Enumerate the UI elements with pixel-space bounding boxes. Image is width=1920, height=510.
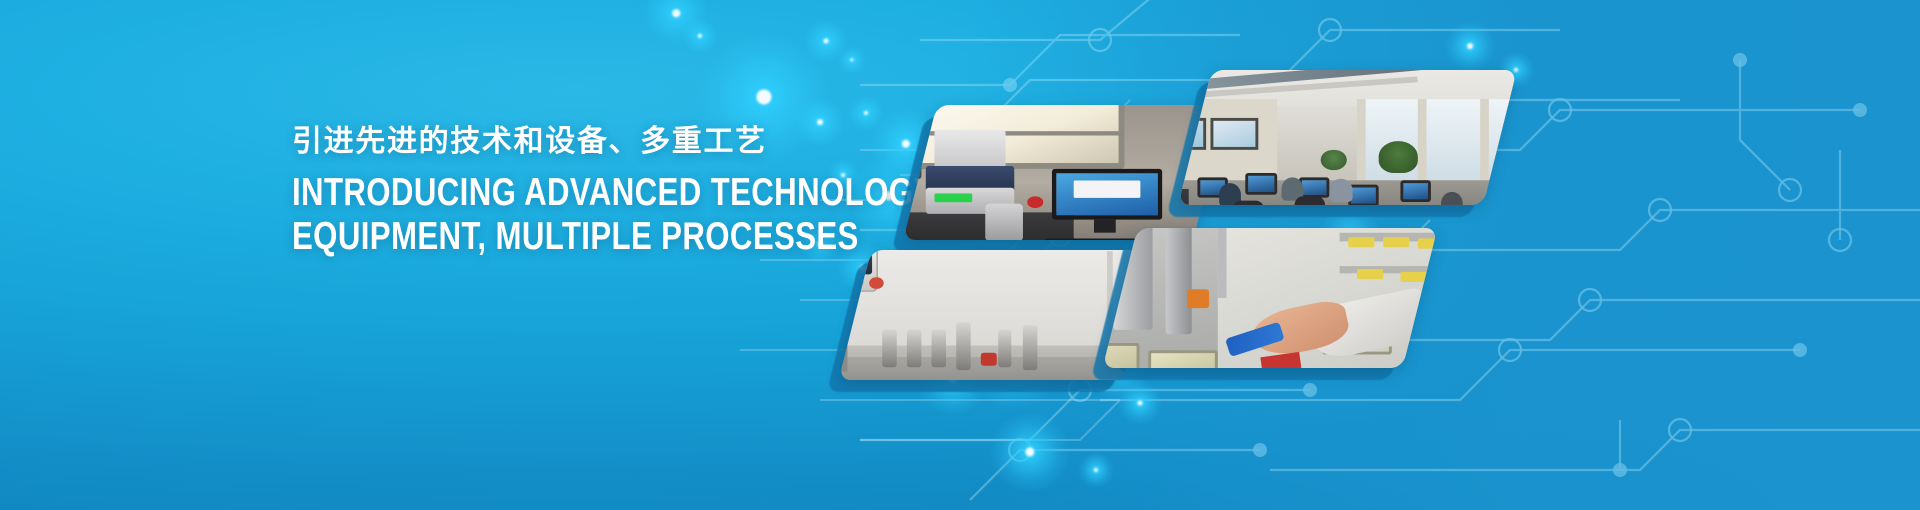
headline-english-line-1: INTRODUCING ADVANCED TECHNOLOGY AND (292, 171, 852, 215)
photo-production-line-operator[interactable] (1120, 228, 1420, 368)
photo-precision-measuring-lab[interactable] (920, 105, 1210, 240)
headline-block: 引进先进的技术和设备、多重工艺 INTRODUCING ADVANCED TEC… (292, 124, 992, 260)
photo-engineering-office[interactable] (1195, 70, 1500, 205)
headline-english-line-2: EQUIPMENT, MULTIPLE PROCESSES (292, 215, 852, 259)
photo-content-office (1178, 70, 1517, 205)
photo-clip (1178, 70, 1517, 205)
photo-clip (1103, 228, 1438, 368)
photo-content-operator (1103, 228, 1438, 368)
headline-chinese: 引进先进的技术和设备、多重工艺 (292, 124, 992, 159)
hero-banner: 引进先进的技术和设备、多重工艺 INTRODUCING ADVANCED TEC… (0, 0, 1920, 510)
headline-english: INTRODUCING ADVANCED TECHNOLOGY AND EQUI… (292, 171, 852, 259)
